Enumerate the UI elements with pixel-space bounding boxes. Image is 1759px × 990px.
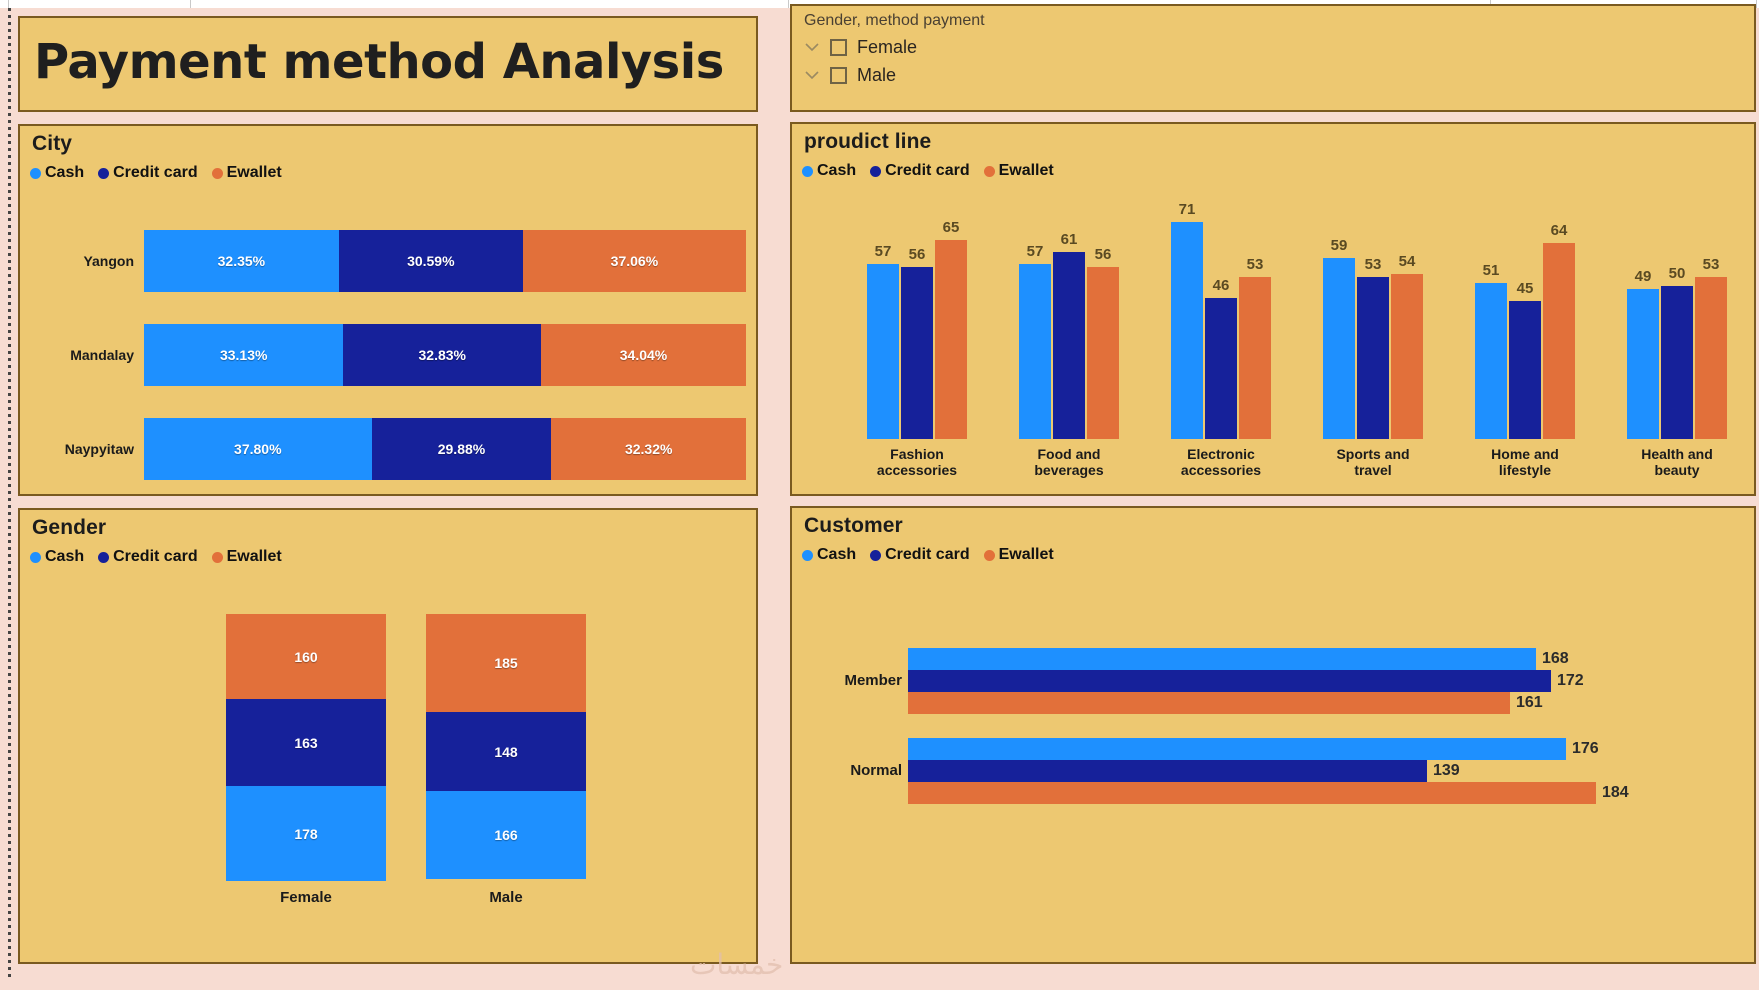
product-bar-cash[interactable]: 57 (867, 194, 899, 439)
legend-label-credit-card: Credit card (113, 164, 197, 182)
gender-bar-group[interactable]: 185148166 (426, 614, 586, 880)
customer-bar-cash[interactable] (908, 648, 1536, 670)
product-column[interactable] (1695, 277, 1727, 439)
city-chart-legend[interactable]: Cash Credit card Ewallet (20, 156, 756, 182)
product-value-label: 61 (1061, 231, 1078, 248)
gender-segment-ewallet[interactable]: 160 (226, 614, 386, 699)
product-bar-cash[interactable]: 71 (1171, 194, 1203, 439)
product-bar-group[interactable]: 575665 (854, 194, 980, 439)
legend-label-cash: Cash (817, 546, 856, 564)
customer-category-label: Normal (812, 762, 902, 779)
product-bar-group[interactable]: 714653 (1158, 194, 1284, 439)
city-stacked-bar[interactable]: 32.35%30.59%37.06% (144, 230, 746, 292)
city-stacked-bar[interactable]: 33.13%32.83%34.04% (144, 324, 746, 386)
city-chart-title: City (20, 126, 756, 156)
product-column[interactable] (1475, 283, 1507, 439)
city-segment-credit-card[interactable]: 30.59% (339, 230, 523, 292)
city-segment-cash[interactable]: 32.35% (144, 230, 339, 292)
city-plot-area: Yangon32.35%30.59%37.06%Mandalay33.13%32… (46, 230, 746, 480)
legend-dot-credit-card (98, 168, 109, 179)
product-bar-credit-card[interactable]: 50 (1661, 194, 1693, 439)
product-column[interactable] (1171, 222, 1203, 439)
product-value-label: 56 (909, 246, 926, 263)
product-bar-credit-card[interactable]: 56 (901, 194, 933, 439)
legend-item-ewallet[interactable]: Ewallet (984, 546, 1054, 564)
customer-value-label: 176 (1566, 740, 1599, 758)
product-bar-ewallet[interactable]: 65 (935, 194, 967, 439)
product-plot-area: 575665576156714653595354514564495053 (812, 194, 1752, 439)
product-bar-ewallet[interactable]: 53 (1239, 194, 1271, 439)
product-bar-ewallet[interactable]: 54 (1391, 194, 1423, 439)
product-category-axis: FashionaccessoriesFood andbeveragesElect… (812, 446, 1752, 492)
gender-category-label: Male (426, 889, 586, 906)
legend-label-ewallet: Ewallet (227, 164, 282, 182)
product-column[interactable] (935, 240, 967, 439)
report-title-card: Payment method Analysis (18, 16, 758, 112)
customer-bar-credit-card[interactable] (908, 670, 1551, 692)
selection-guide (8, 8, 11, 978)
gender-stacked-column[interactable]: 160163178 (226, 614, 386, 881)
product-bar-credit-card[interactable]: 61 (1053, 194, 1085, 439)
city-category-label: Mandalay (46, 347, 144, 363)
city-segment-credit-card[interactable]: 32.83% (343, 324, 541, 386)
product-value-label: 53 (1703, 256, 1720, 273)
city-segment-ewallet[interactable]: 37.06% (523, 230, 746, 292)
city-stacked-bar[interactable]: 37.80%29.88%32.32% (144, 418, 746, 480)
city-bar-row[interactable]: Mandalay33.13%32.83%34.04% (46, 324, 746, 386)
product-bar-group[interactable]: 576156 (1006, 194, 1132, 439)
legend-dot-ewallet (984, 166, 995, 177)
gender-segment-cash[interactable]: 178 (226, 786, 386, 881)
gender-segment-cash[interactable]: 166 (426, 791, 586, 879)
gender-segment-ewallet[interactable]: 185 (426, 614, 586, 712)
product-column[interactable] (1087, 267, 1119, 439)
city-chart-panel[interactable]: City Cash Credit card Ewallet Yangon32.3… (18, 124, 758, 496)
legend-item-cash[interactable]: Cash (802, 546, 856, 564)
product-column[interactable] (1053, 252, 1085, 439)
filter-checkbox-male[interactable] (830, 67, 847, 84)
customer-plot-area: Member168172161Normal176139184 (812, 628, 1752, 918)
city-segment-ewallet[interactable]: 34.04% (541, 324, 746, 386)
customer-bar-row[interactable]: 161 (908, 692, 1543, 714)
legend-label-cash: Cash (45, 548, 84, 566)
chevron-down-icon[interactable] (804, 40, 820, 56)
customer-bar-row[interactable]: 168 (908, 648, 1569, 670)
product-value-label: 65 (943, 219, 960, 236)
customer-bar-cash[interactable] (908, 738, 1566, 760)
customer-value-label: 139 (1427, 762, 1460, 780)
customer-value-label: 161 (1510, 694, 1543, 712)
filter-label-male: Male (857, 65, 896, 86)
legend-dot-ewallet (212, 168, 223, 179)
customer-bar-row[interactable]: 184 (908, 782, 1629, 804)
legend-item-credit-card[interactable]: Credit card (98, 164, 197, 182)
filter-item-female[interactable]: Female (792, 30, 1754, 58)
legend-label-ewallet: Ewallet (999, 162, 1054, 180)
customer-bar-row[interactable]: 139 (908, 760, 1460, 782)
product-column[interactable] (1509, 301, 1541, 439)
product-bar-cash[interactable]: 59 (1323, 194, 1355, 439)
report-canvas: Payment method Analysis Gender, method p… (0, 0, 1759, 990)
product-column[interactable] (1357, 277, 1389, 439)
product-bar-ewallet[interactable]: 53 (1695, 194, 1727, 439)
product-column[interactable] (1391, 274, 1423, 439)
legend-label-cash: Cash (45, 164, 84, 182)
customer-chart-panel[interactable]: Customer Cash Credit card Ewallet Member… (790, 506, 1756, 964)
product-line-chart-title: proudict line (792, 124, 1754, 154)
city-segment-credit-card[interactable]: 29.88% (372, 418, 552, 480)
product-value-label: 49 (1635, 268, 1652, 285)
customer-bar-row[interactable]: 172 (908, 670, 1584, 692)
product-value-label: 51 (1483, 262, 1500, 279)
product-bar-cash[interactable]: 51 (1475, 194, 1507, 439)
product-bar-credit-card[interactable]: 46 (1205, 194, 1237, 439)
product-column[interactable] (1543, 243, 1575, 439)
watermark: خمسات (690, 948, 783, 981)
filter-item-male[interactable]: Male (792, 58, 1754, 86)
legend-label-ewallet: Ewallet (227, 548, 282, 566)
product-value-label: 45 (1517, 280, 1534, 297)
legend-label-credit-card: Credit card (885, 162, 969, 180)
filter-slicer-panel[interactable]: Gender, method payment Female Male (790, 4, 1756, 112)
customer-bar-ewallet[interactable] (908, 692, 1510, 714)
legend-item-cash[interactable]: Cash (30, 164, 84, 182)
gender-chart-title: Gender (20, 510, 756, 540)
gender-chart-panel[interactable]: Gender Cash Credit card Ewallet 16016317… (18, 508, 758, 964)
customer-value-label: 184 (1596, 784, 1629, 802)
product-bar-cash[interactable]: 57 (1019, 194, 1051, 439)
city-bar-row[interactable]: Yangon32.35%30.59%37.06% (46, 230, 746, 292)
gender-chart-legend[interactable]: Cash Credit card Ewallet (20, 540, 756, 566)
city-category-label: Yangon (46, 253, 144, 269)
gender-segment-credit-card[interactable]: 163 (226, 699, 386, 786)
customer-bar-group[interactable]: Normal176139184 (812, 738, 1752, 808)
product-column[interactable] (901, 267, 933, 439)
product-value-label: 50 (1669, 265, 1686, 282)
customer-category-label: Member (812, 672, 902, 689)
gender-plot-area: 160163178Female185148166Male (46, 606, 746, 906)
legend-dot-ewallet (984, 550, 995, 561)
city-segment-cash[interactable]: 33.13% (144, 324, 343, 386)
product-category-label: Fashionaccessories (854, 446, 980, 478)
customer-bar-row[interactable]: 176 (908, 738, 1599, 760)
legend-item-credit-card[interactable]: Credit card (870, 162, 969, 180)
legend-dot-cash (30, 552, 41, 563)
product-value-label: 59 (1331, 237, 1348, 254)
legend-dot-credit-card (98, 552, 109, 563)
filter-checkbox-female[interactable] (830, 39, 847, 56)
product-category-label: Food andbeverages (1006, 446, 1132, 478)
legend-item-ewallet[interactable]: Ewallet (984, 162, 1054, 180)
legend-item-ewallet[interactable]: Ewallet (212, 164, 282, 182)
customer-bar-credit-card[interactable] (908, 760, 1427, 782)
product-bar-ewallet[interactable]: 64 (1543, 194, 1575, 439)
gender-stacked-column[interactable]: 185148166 (426, 614, 586, 879)
legend-item-cash[interactable]: Cash (802, 162, 856, 180)
product-chart-legend[interactable]: Cash Credit card Ewallet (792, 154, 1754, 180)
product-column[interactable] (867, 264, 899, 439)
customer-chart-legend[interactable]: Cash Credit card Ewallet (792, 538, 1754, 564)
legend-label-credit-card: Credit card (885, 546, 969, 564)
product-bar-group[interactable]: 514564 (1462, 194, 1588, 439)
product-column[interactable] (1661, 286, 1693, 439)
product-bar-group[interactable]: 595354 (1310, 194, 1436, 439)
customer-value-label: 168 (1536, 650, 1569, 668)
product-value-label: 54 (1399, 253, 1416, 270)
product-line-chart-panel[interactable]: proudict line Cash Credit card Ewallet 5… (790, 122, 1756, 496)
product-bar-credit-card[interactable]: 45 (1509, 194, 1541, 439)
city-category-label: Naypyitaw (46, 441, 144, 457)
product-column[interactable] (1205, 298, 1237, 439)
legend-label-credit-card: Credit card (113, 548, 197, 566)
city-segment-cash[interactable]: 37.80% (144, 418, 372, 480)
city-bar-row[interactable]: Naypyitaw37.80%29.88%32.32% (46, 418, 746, 480)
product-category-label: Sports andtravel (1310, 446, 1436, 478)
legend-dot-credit-card (870, 166, 881, 177)
product-value-label: 71 (1179, 201, 1196, 218)
product-category-label: Electronicaccessories (1158, 446, 1284, 478)
legend-dot-credit-card (870, 550, 881, 561)
product-value-label: 53 (1247, 256, 1264, 273)
city-segment-ewallet[interactable]: 32.32% (551, 418, 746, 480)
page-title: Payment method Analysis (20, 18, 756, 90)
legend-item-cash[interactable]: Cash (30, 548, 84, 566)
legend-dot-ewallet (212, 552, 223, 563)
filter-caption: Gender, method payment (792, 6, 1754, 30)
legend-item-credit-card[interactable]: Credit card (870, 546, 969, 564)
legend-dot-cash (802, 550, 813, 561)
legend-dot-cash (802, 166, 813, 177)
product-bar-credit-card[interactable]: 53 (1357, 194, 1389, 439)
customer-value-label: 172 (1551, 672, 1584, 690)
legend-label-ewallet: Ewallet (999, 546, 1054, 564)
customer-chart-title: Customer (792, 508, 1754, 538)
filter-label-female: Female (857, 37, 917, 58)
product-category-label: Home andlifestyle (1462, 446, 1588, 478)
product-value-label: 57 (875, 243, 892, 260)
product-bar-group[interactable]: 495053 (1614, 194, 1740, 439)
legend-item-ewallet[interactable]: Ewallet (212, 548, 282, 566)
product-column[interactable] (1323, 258, 1355, 439)
product-value-label: 64 (1551, 222, 1568, 239)
gender-category-label: Female (226, 889, 386, 906)
legend-dot-cash (30, 168, 41, 179)
gender-segment-credit-card[interactable]: 148 (426, 712, 586, 791)
product-value-label: 46 (1213, 277, 1230, 294)
product-bar-ewallet[interactable]: 56 (1087, 194, 1119, 439)
legend-label-cash: Cash (817, 162, 856, 180)
product-value-label: 57 (1027, 243, 1044, 260)
product-value-label: 53 (1365, 256, 1382, 273)
customer-bar-group[interactable]: Member168172161 (812, 648, 1752, 718)
customer-bar-ewallet[interactable] (908, 782, 1596, 804)
legend-item-credit-card[interactable]: Credit card (98, 548, 197, 566)
product-category-label: Health andbeauty (1614, 446, 1740, 478)
product-value-label: 56 (1095, 246, 1112, 263)
product-column[interactable] (1239, 277, 1271, 439)
product-bar-cash[interactable]: 49 (1627, 194, 1659, 439)
chevron-down-icon[interactable] (804, 68, 820, 84)
product-column[interactable] (1019, 264, 1051, 439)
gender-bar-group[interactable]: 160163178 (226, 614, 386, 880)
product-column[interactable] (1627, 289, 1659, 439)
